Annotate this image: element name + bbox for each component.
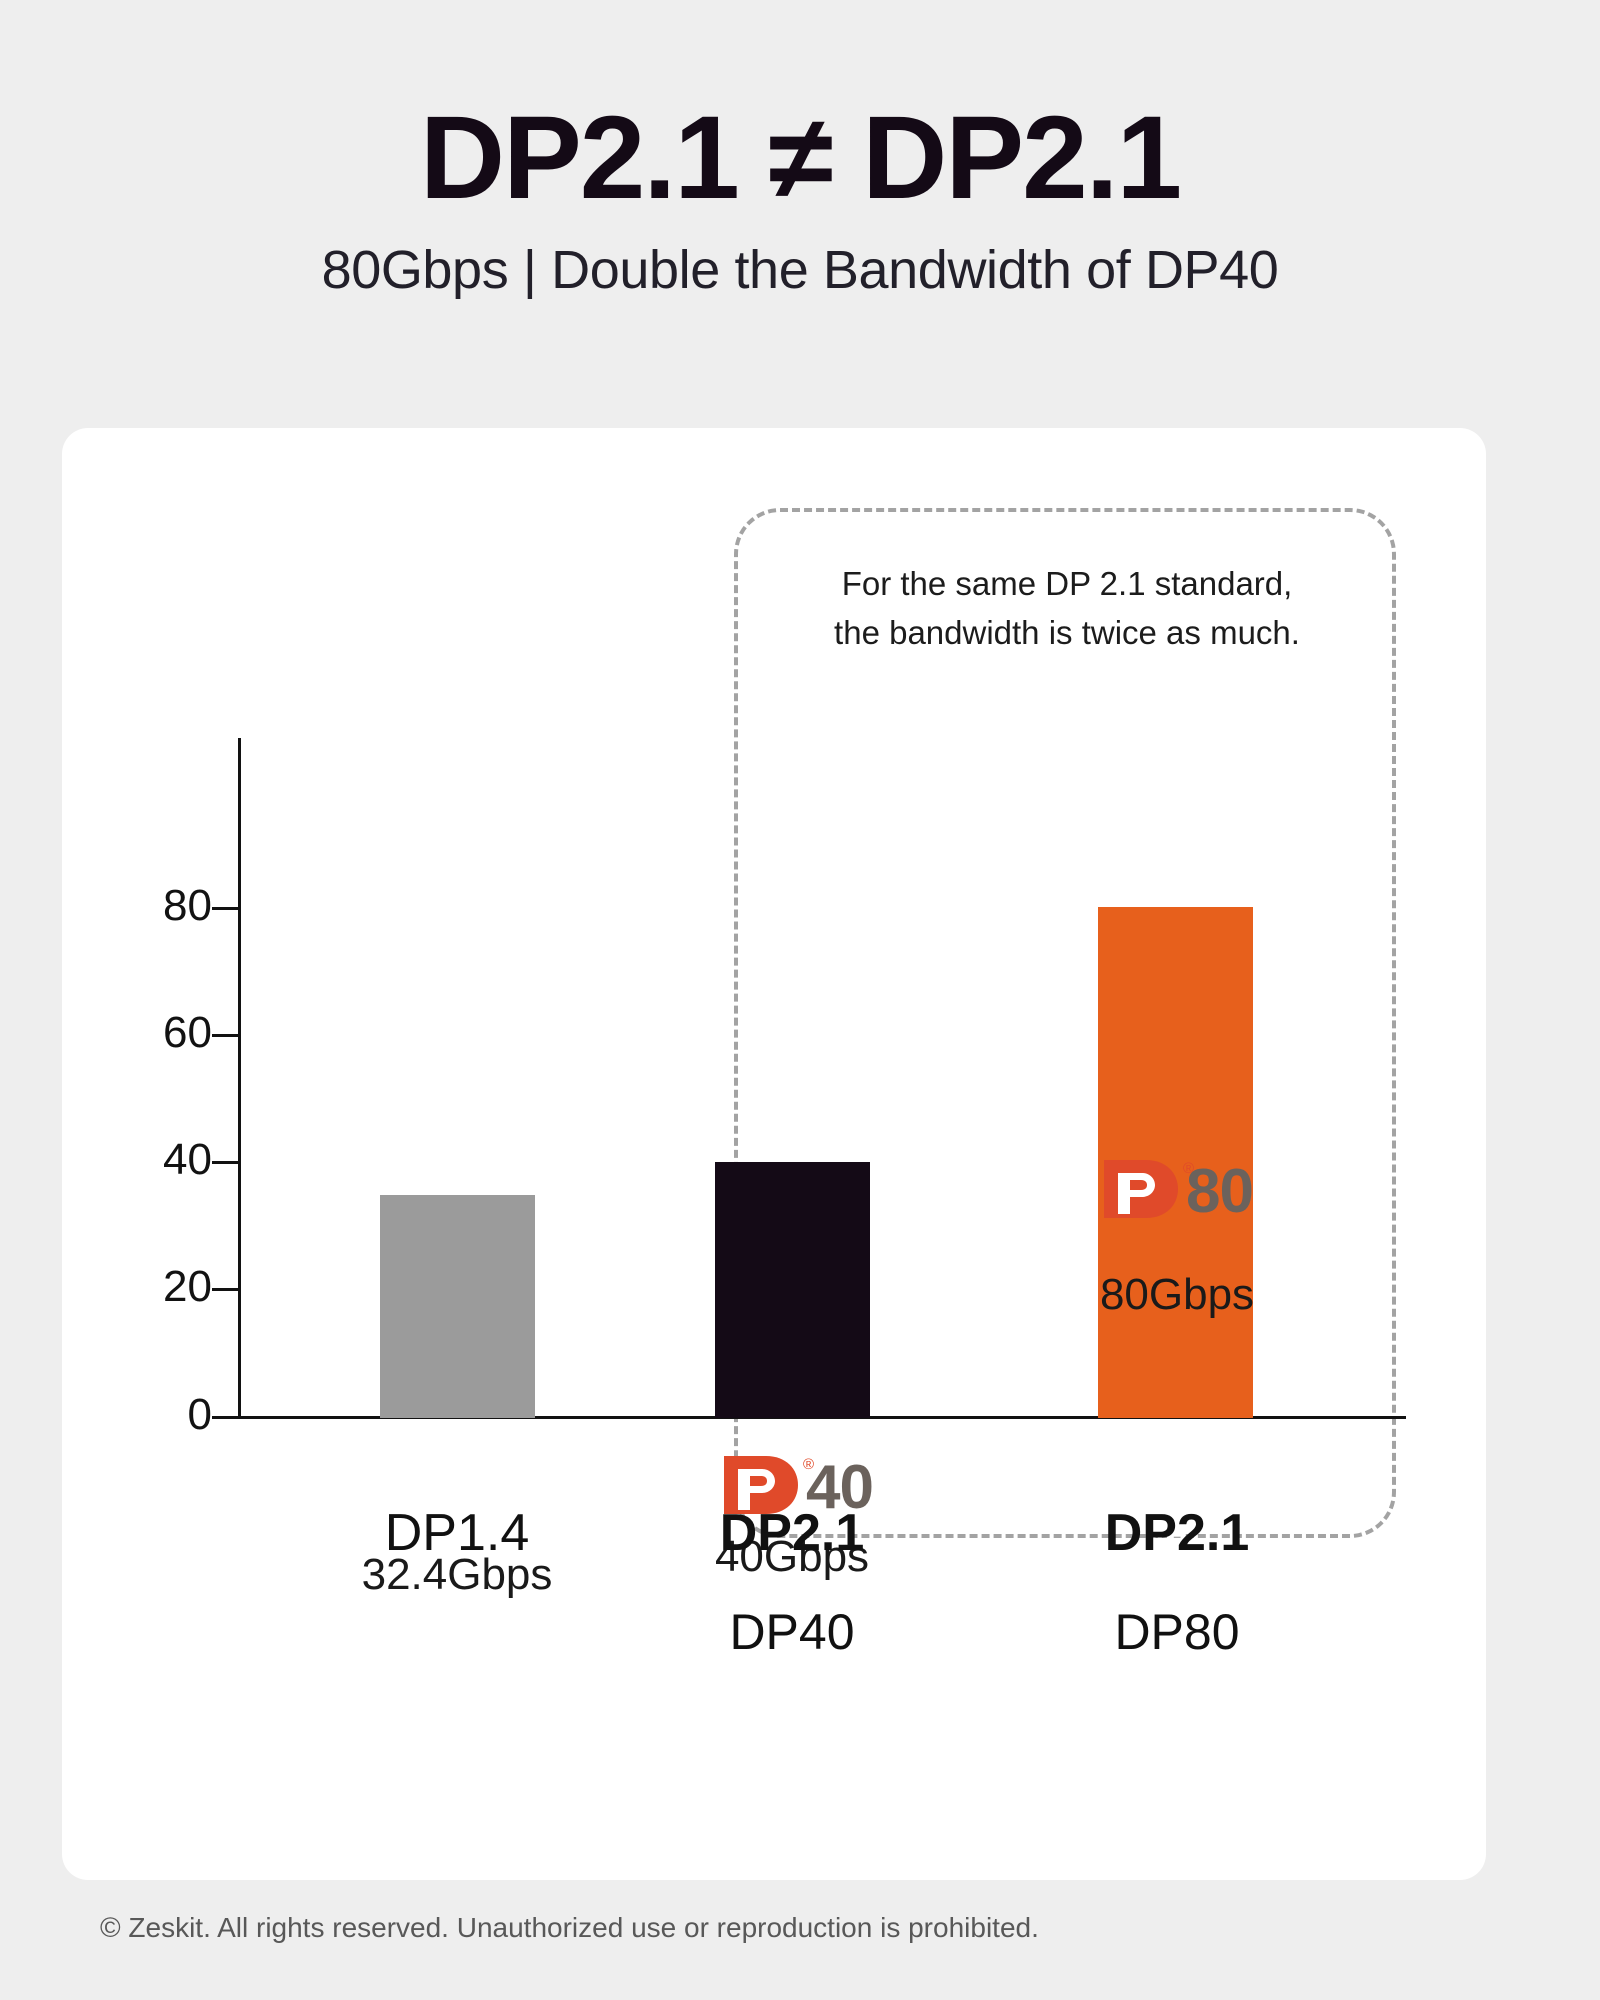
y-tick-label-20: 20 [72, 1262, 212, 1312]
x-category-dp21-dp80-sublabel: DP80 [1007, 1603, 1347, 1661]
x-category-dp21-dp40-label: DP2.1 [622, 1503, 962, 1563]
bar-value-dp80: 80Gbps [1007, 1270, 1347, 1320]
x-category-dp21-dp40: DP2.1 DP40 [622, 1503, 962, 1661]
y-axis-line [238, 738, 241, 1418]
bar-dp21-dp40 [715, 1162, 870, 1418]
registered-trademark-icon: ® [1183, 1160, 1194, 1177]
x-category-dp14: DP1.4 [287, 1503, 627, 1563]
page-title: DP2.1 ≠ DP2.1 [0, 96, 1600, 221]
registered-trademark-icon: ® [803, 1456, 814, 1473]
x-category-dp21-dp80-label: DP2.1 [1007, 1503, 1347, 1563]
footer-copyright: © Zeskit. All rights reserved. Unauthori… [100, 1912, 1039, 1944]
x-category-dp21-dp80: DP2.1 DP80 [1007, 1503, 1347, 1661]
bar-dp14 [380, 1195, 535, 1418]
y-tick-80 [212, 907, 240, 910]
displayport-mark-icon: ® [1102, 1158, 1180, 1225]
chart-card: For the same DP 2.1 standard, the bandwi… [62, 428, 1486, 1880]
y-tick-label-40: 40 [72, 1135, 212, 1185]
bar-chart: 0 20 40 60 80 32.4Gbps [62, 428, 1486, 1880]
x-category-dp21-dp40-sublabel: DP40 [622, 1603, 962, 1661]
x-category-dp14-label: DP1.4 [287, 1503, 627, 1563]
header: DP2.1 ≠ DP2.1 80Gbps | Double the Bandwi… [0, 96, 1600, 301]
y-tick-label-0: 0 [92, 1390, 212, 1440]
dp80-logo: ® 80 [1102, 1156, 1253, 1227]
y-tick-20 [212, 1288, 240, 1291]
y-tick-40 [212, 1161, 240, 1164]
y-tick-0 [212, 1416, 240, 1419]
y-tick-label-80: 80 [72, 881, 212, 931]
dp80-logo-number: 80 [1186, 1156, 1253, 1227]
page-subtitle: 80Gbps | Double the Bandwidth of DP40 [0, 239, 1600, 301]
y-tick-60 [212, 1034, 240, 1037]
y-tick-label-60: 60 [72, 1008, 212, 1058]
infographic-page: DP2.1 ≠ DP2.1 80Gbps | Double the Bandwi… [0, 0, 1600, 2000]
